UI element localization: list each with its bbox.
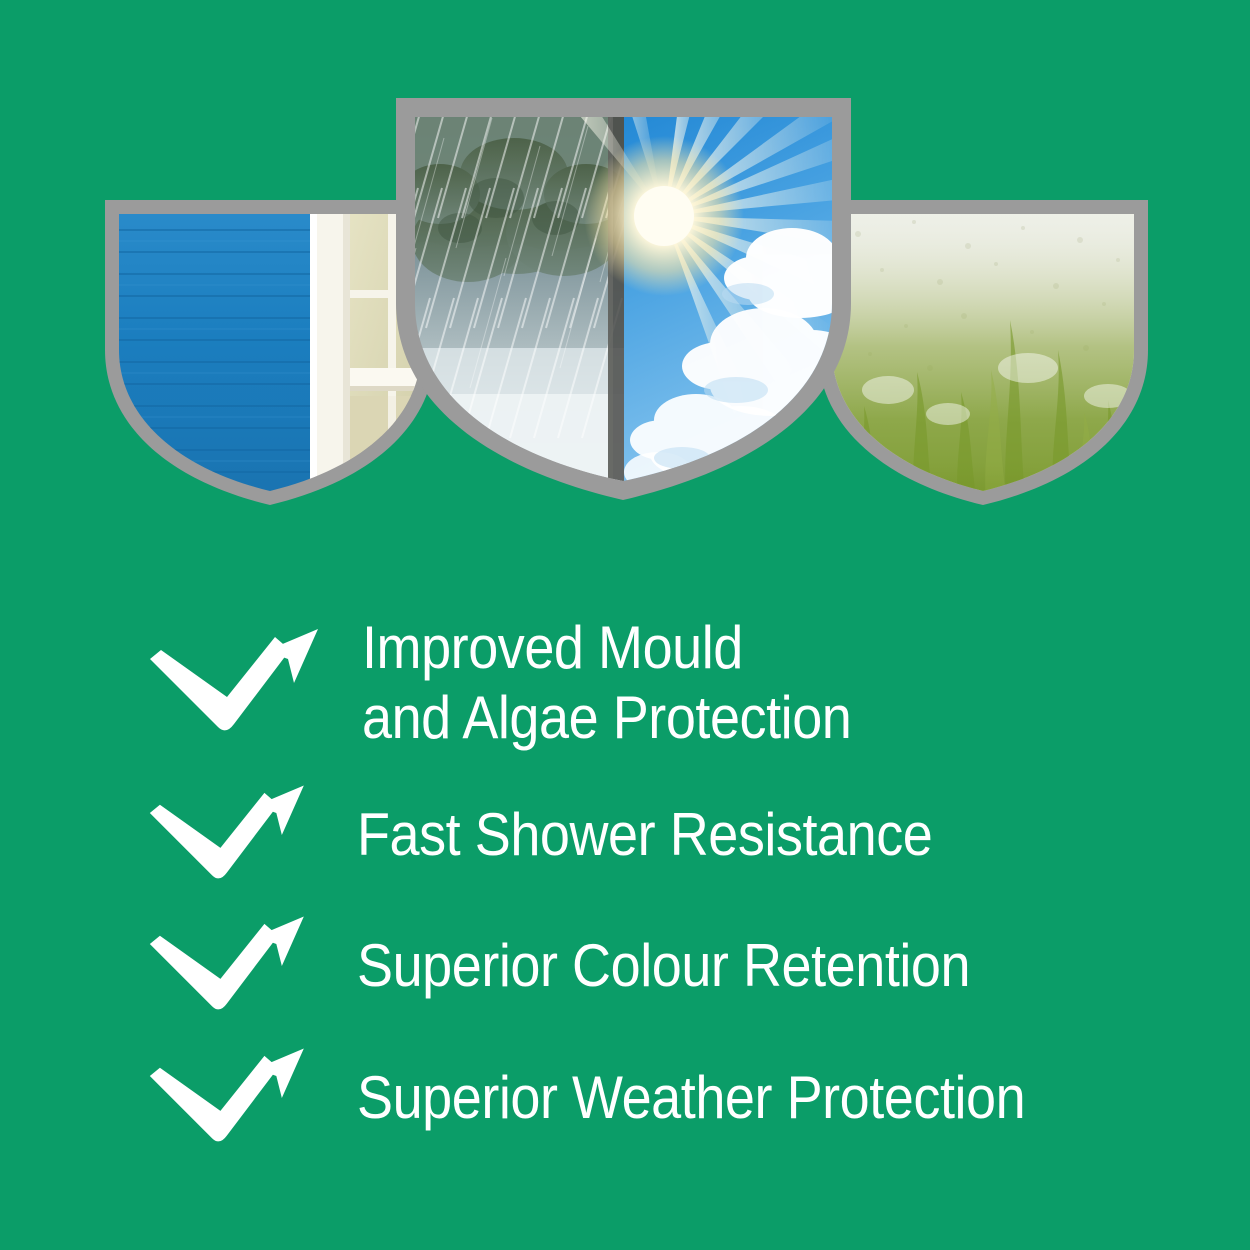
shield-masonry xyxy=(105,200,435,505)
benefit-item: Improved Mould and Algae Protection xyxy=(0,595,1250,770)
shield-weather xyxy=(396,98,851,500)
check-arrow-icon xyxy=(148,623,328,743)
shield-group xyxy=(0,0,1250,560)
promo-panel: Improved Mould and Algae Protection Fast… xyxy=(0,0,1250,1250)
check-arrow-icon xyxy=(148,780,323,890)
benefit-label: Superior Weather Protection xyxy=(357,1063,1025,1133)
benefit-item: Superior Colour Retention xyxy=(0,900,1250,1032)
benefit-item: Superior Weather Protection xyxy=(0,1032,1250,1164)
benefit-item: Fast Shower Resistance xyxy=(0,770,1250,900)
benefit-label: Superior Colour Retention xyxy=(357,931,970,1001)
check-arrow-icon xyxy=(148,1043,323,1153)
benefit-label: Improved Mould and Algae Protection xyxy=(362,613,851,752)
shield-algae xyxy=(818,200,1148,505)
check-arrow-icon xyxy=(148,911,323,1021)
benefits-list: Improved Mould and Algae Protection Fast… xyxy=(0,595,1250,1164)
benefit-label: Fast Shower Resistance xyxy=(357,800,932,870)
